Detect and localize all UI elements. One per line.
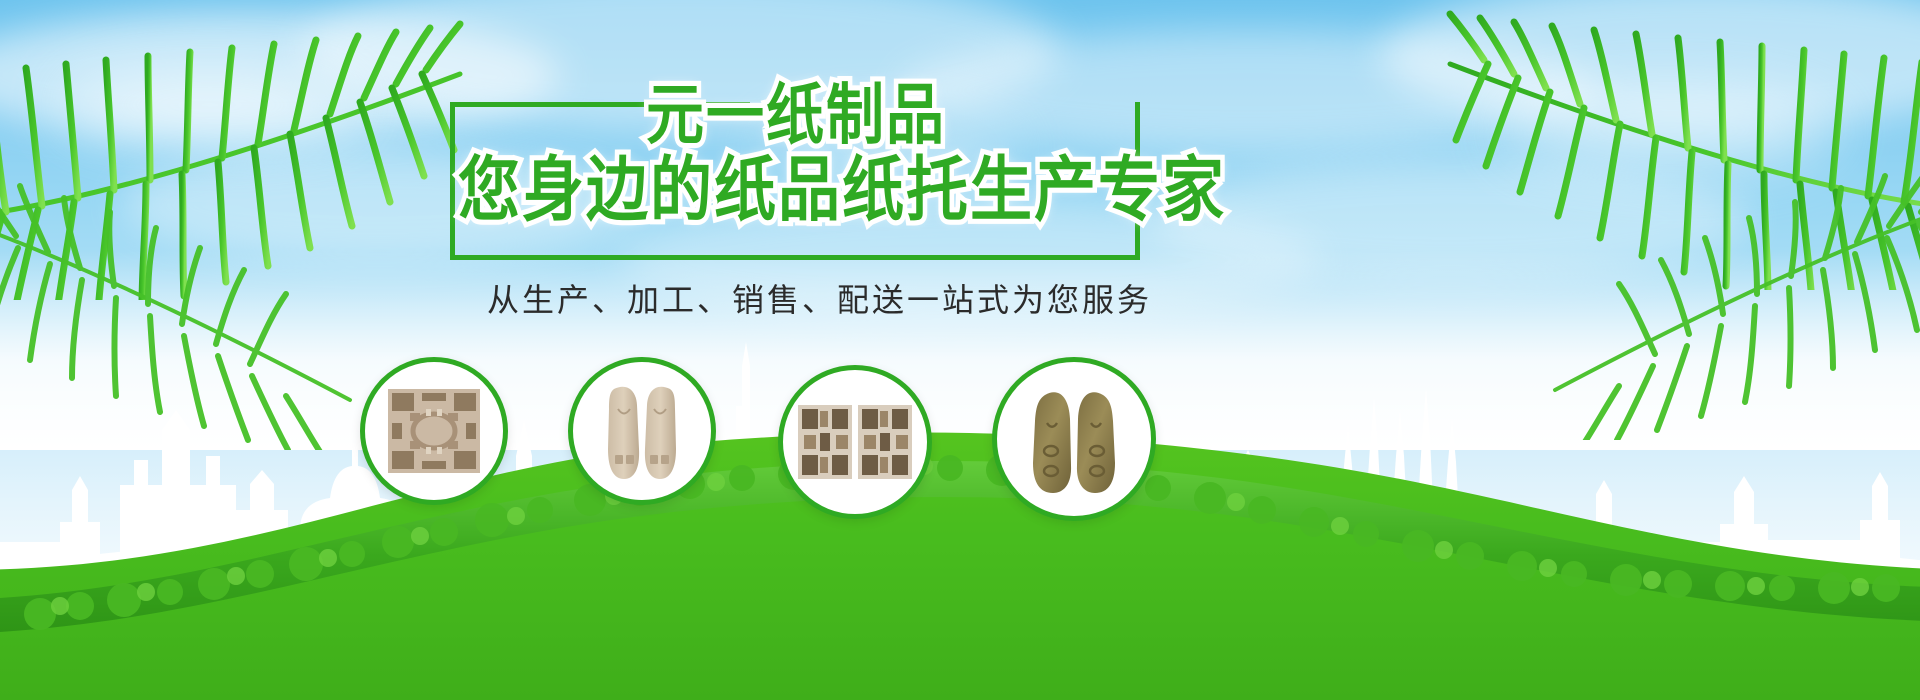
- product-circle-4[interactable]: [992, 357, 1156, 521]
- palm-frond-icon: [0, 150, 370, 450]
- headline-frame: 元一纸制品 您身边的纸品纸托生产专家: [450, 88, 1140, 263]
- subtitle: 从生产、加工、销售、配送一站式为您服务: [487, 275, 1152, 321]
- product-circle-3[interactable]: [778, 365, 932, 519]
- palm-frond-icon: [1530, 140, 1920, 440]
- product-image-double-tray: [796, 399, 914, 485]
- product-image-square-tray: [382, 379, 486, 483]
- headline-line-1: 元一纸制品: [646, 78, 946, 151]
- frame-line-left: [450, 102, 455, 260]
- product-image-shoe-pair-light: [588, 375, 696, 487]
- frame-line-bottom: [450, 255, 1135, 260]
- product-image-shoe-pair-dark: [1015, 379, 1133, 499]
- headline-line-2: 您身边的纸品纸托生产专家: [458, 150, 1226, 230]
- product-circle-1[interactable]: [360, 357, 508, 505]
- promo-banner: 元一纸制品 您身边的纸品纸托生产专家 从生产、加工、销售、配送一站式为您服务: [0, 0, 1920, 700]
- product-circle-2[interactable]: [568, 357, 716, 505]
